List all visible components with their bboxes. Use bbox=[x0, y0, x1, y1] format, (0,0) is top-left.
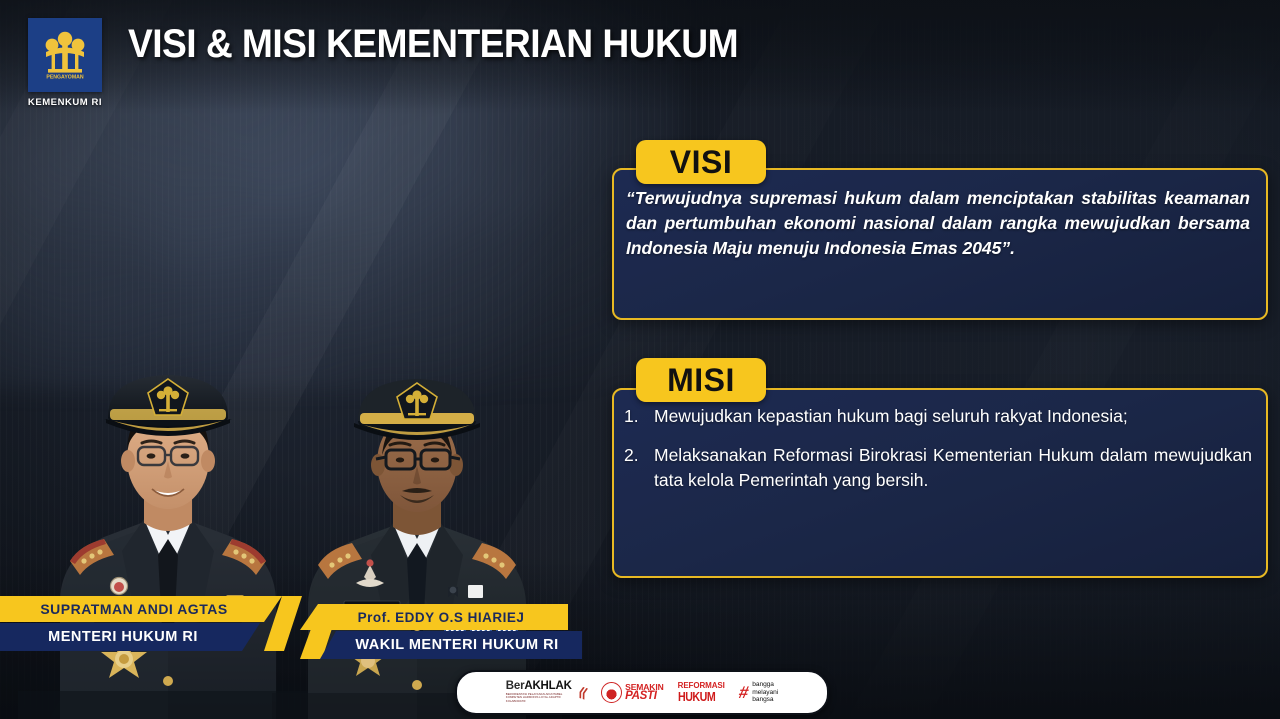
logo-caption: KEMENKUM RI bbox=[22, 97, 108, 108]
misi-item: 1. Mewujudkan kepastian hukum bagi selur… bbox=[624, 404, 1252, 429]
semakin-pasti-seal-icon bbox=[601, 682, 622, 703]
visi-badge: VISI bbox=[636, 140, 766, 184]
footer-logo-bangga-melayani-bangsa: # bangga melayani bangsa bbox=[739, 681, 778, 703]
nameplate-minister: SUPRATMAN ANDI AGTAS MENTERI HUKUM RI bbox=[0, 596, 282, 651]
footer-logo-berakhlak: BerAKHLAK BERORIENTASI PELAYANAN AKUNTAB… bbox=[506, 681, 587, 703]
misi-item-text: Mewujudkan kepastian hukum bagi seluruh … bbox=[654, 406, 1128, 426]
page-title: VISI & MISI KEMENTERIAN HUKUM bbox=[128, 22, 738, 67]
nameplate-vice-minister-name: Prof. EDDY O.S HIARIEJ bbox=[300, 604, 568, 630]
nameplate-vice-minister-role: WAKIL MENTERI HUKUM RI bbox=[320, 631, 582, 659]
bangga-line2: melayani bbox=[752, 689, 778, 696]
misi-item-number: 1. bbox=[624, 404, 648, 429]
bangga-line1: bangga bbox=[752, 681, 778, 688]
page-header: PENGAYOMAN KEMENKUM RI VISI & MISI KEMEN… bbox=[0, 0, 1280, 110]
nameplate-minister-name: SUPRATMAN ANDI AGTAS bbox=[0, 596, 282, 622]
slide-root: SUPRATMAN bbox=[0, 0, 1280, 719]
nameplate-minister-role: MENTERI HUKUM RI bbox=[0, 623, 260, 651]
reformasi-line2: HUKUM bbox=[678, 690, 717, 703]
footer-logo-reformasi-hukum: REFORMASI HUKUM bbox=[678, 682, 725, 703]
ministry-logo: PENGAYOMAN KEMENKUM RI bbox=[22, 18, 108, 108]
footer-logo-bar: BerAKHLAK BERORIENTASI PELAYANAN AKUNTAB… bbox=[455, 670, 829, 715]
semakin-line2: PASTI bbox=[625, 691, 664, 703]
misi-item: 2. Melaksanakan Reformasi Birokrasi Keme… bbox=[624, 443, 1252, 493]
bangga-hash-icon: # bbox=[737, 684, 750, 701]
berakhlak-bold: AKHLAK bbox=[524, 680, 571, 692]
footer-logo-semakin-pasti: SEMAKIN PASTI bbox=[601, 682, 664, 703]
logo-motto-text: PENGAYOMAN bbox=[46, 75, 84, 81]
visi-statement: “Terwujudnya supremasi hukum dalam menci… bbox=[626, 186, 1250, 261]
berakhlak-subtitle: BERORIENTASI PELAYANAN AKUNTABEL KOMPETE… bbox=[506, 693, 578, 704]
misi-item-text: Melaksanakan Reformasi Birokrasi Kemente… bbox=[654, 445, 1252, 490]
misi-badge: MISI bbox=[636, 358, 766, 402]
misi-item-number: 2. bbox=[624, 443, 648, 468]
nameplate-vice-minister: Prof. EDDY O.S HIARIEJ WAKIL MENTERI HUK… bbox=[300, 604, 582, 659]
pengayoman-emblem-icon: PENGAYOMAN bbox=[28, 18, 102, 92]
berakhlak-prefix: Ber bbox=[506, 680, 525, 692]
misi-list: 1. Mewujudkan kepastian hukum bagi selur… bbox=[624, 404, 1252, 493]
bangga-line3: bangsa bbox=[752, 696, 778, 703]
